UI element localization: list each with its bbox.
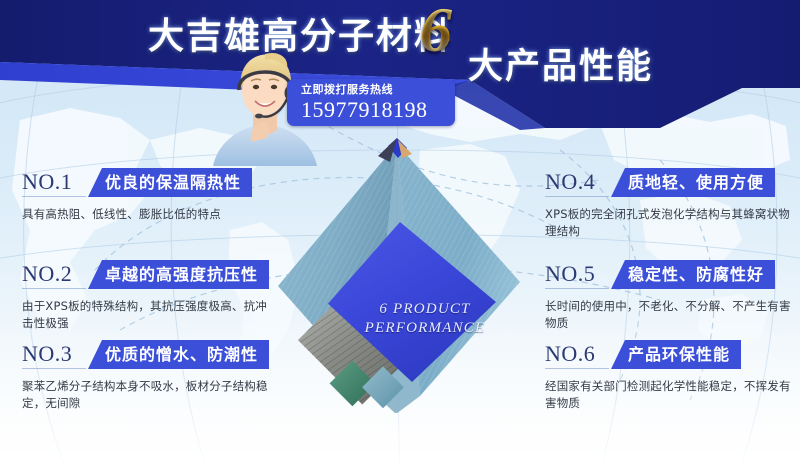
feature-3-title: 优质的憎水、防潮性 [88, 340, 269, 369]
feature-2-rule [22, 288, 86, 289]
center-diamond-artwork [270, 128, 540, 413]
feature-5-title: 稳定性、防腐性好 [611, 260, 775, 289]
feature-3-desc: 聚苯乙烯分子结构本身不吸水，板材分子结构稳定，无间隙 [22, 378, 274, 412]
page-subtitle: 大产品性能 [468, 38, 653, 89]
feature-6-desc: 经国家有关部门检测起化学性能稳定，不挥发有害物质 [545, 378, 797, 412]
feature-item-6: NO.6 产品环保性能 经国家有关部门检测起化学性能稳定，不挥发有害物质 [545, 340, 800, 412]
feature-6-head: NO.6 产品环保性能 [545, 340, 800, 370]
feature-item-2: NO.2 卓越的高强度抗压性 由于XPS板的特殊结构，其抗压强度极高、抗冲击性极… [22, 260, 277, 332]
feature-1-rule [22, 196, 86, 197]
feature-6-number: NO.6 [545, 340, 595, 368]
hotline-label: 立即拨打服务热线 [301, 83, 455, 97]
feature-1-title: 优良的保温隔热性 [88, 168, 252, 197]
feature-item-3: NO.3 优质的憎水、防潮性 聚苯乙烯分子结构本身不吸水，板材分子结构稳定，无间… [22, 340, 277, 412]
hotline-badge[interactable]: 立即拨打服务热线 15977918198 [287, 79, 455, 126]
feature-item-4: NO.4 质地轻、使用方便 XPS板的完全闭孔式发泡化学结构与其蜂窝状物理结构 [545, 168, 800, 240]
feature-4-number: NO.4 [545, 168, 595, 196]
feature-4-desc: XPS板的完全闭孔式发泡化学结构与其蜂窝状物理结构 [545, 206, 797, 240]
feature-1-head: NO.1 优良的保温隔热性 [22, 168, 277, 198]
feature-item-5: NO.5 稳定性、防腐性好 长时间的使用中，不老化、不分解、不产生有害物质 [545, 260, 800, 332]
poster-canvas: 大吉雄高分子材料 6 大产品性能 [0, 0, 800, 474]
feature-2-head: NO.2 卓越的高强度抗压性 [22, 260, 277, 290]
feature-5-number: NO.5 [545, 260, 595, 288]
hotline-number: 15977918198 [301, 97, 455, 122]
feature-6-title: 产品环保性能 [611, 340, 741, 369]
feature-item-1: NO.1 优良的保温隔热性 具有高热阻、低线性、膨胀比低的特点 [22, 168, 277, 223]
feature-3-number: NO.3 [22, 340, 72, 368]
feature-3-head: NO.3 优质的憎水、防潮性 [22, 340, 277, 370]
feature-5-rule [545, 288, 609, 289]
feature-4-title: 质地轻、使用方便 [611, 168, 775, 197]
feature-4-head: NO.4 质地轻、使用方便 [545, 168, 800, 198]
feature-2-number: NO.2 [22, 260, 72, 288]
feature-6-rule [545, 368, 609, 369]
feature-3-rule [22, 368, 86, 369]
feature-2-desc: 由于XPS板的特殊结构，其抗压强度极高、抗冲击性极强 [22, 298, 274, 332]
feature-2-title: 卓越的高强度抗压性 [88, 260, 269, 289]
feature-1-desc: 具有高热阻、低线性、膨胀比低的特点 [22, 206, 274, 223]
feature-5-desc: 长时间的使用中，不老化、不分解、不产生有害物质 [545, 298, 797, 332]
feature-5-head: NO.5 稳定性、防腐性好 [545, 260, 800, 290]
feature-4-rule [545, 196, 609, 197]
feature-1-number: NO.1 [22, 168, 72, 196]
title-number-six: 6 [420, 0, 452, 62]
